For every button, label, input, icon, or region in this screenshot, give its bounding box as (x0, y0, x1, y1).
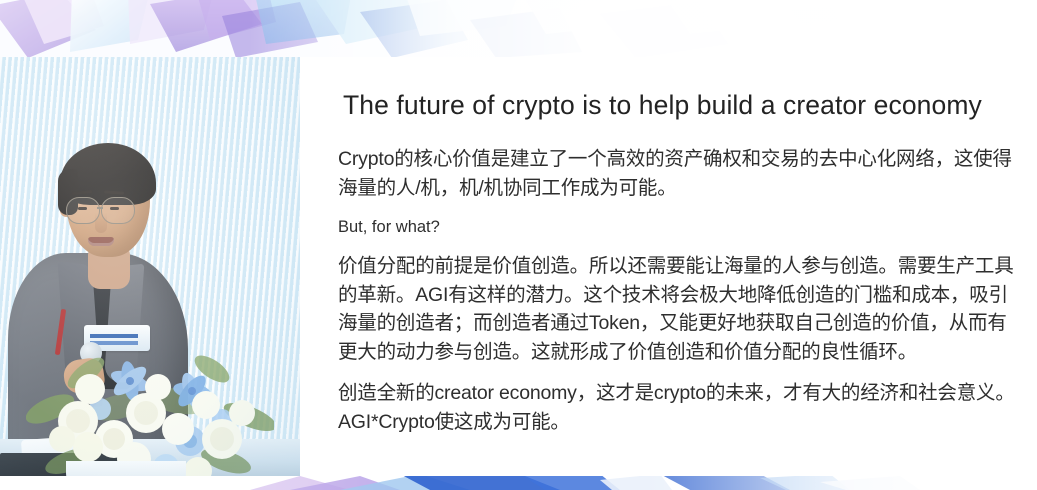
banner-crystal-graphic (0, 0, 1037, 58)
slide-screenshot: The future of crypto is to help build a … (0, 0, 1037, 490)
slide-content-pane: The future of crypto is to help build a … (300, 57, 1037, 478)
photo-vignette (0, 57, 300, 478)
top-decorative-banner (0, 0, 1037, 58)
speaker-photo (0, 57, 300, 478)
paragraph-creator-economy: 创造全新的creator economy，这才是crypto的未来，才有大的经济… (338, 379, 1024, 436)
footer-crystal-graphic (0, 476, 1037, 490)
slide-title: The future of crypto is to help build a … (343, 90, 1023, 121)
slide-body: Crypto的核心价值是建立了一个高效的资产确权和交易的去中心化网络，这使得海量… (338, 145, 1024, 447)
paragraph-question: But, for what? (338, 215, 1024, 239)
bottom-decorative-strip (0, 476, 1037, 490)
paragraph-core-value: Crypto的核心价值是建立了一个高效的资产确权和交易的去中心化网络，这使得海量… (338, 145, 1024, 202)
paragraph-value-creation: 价值分配的前提是价值创造。所以还需要能让海量的人参与创造。需要生产工具的革新。A… (338, 252, 1024, 366)
